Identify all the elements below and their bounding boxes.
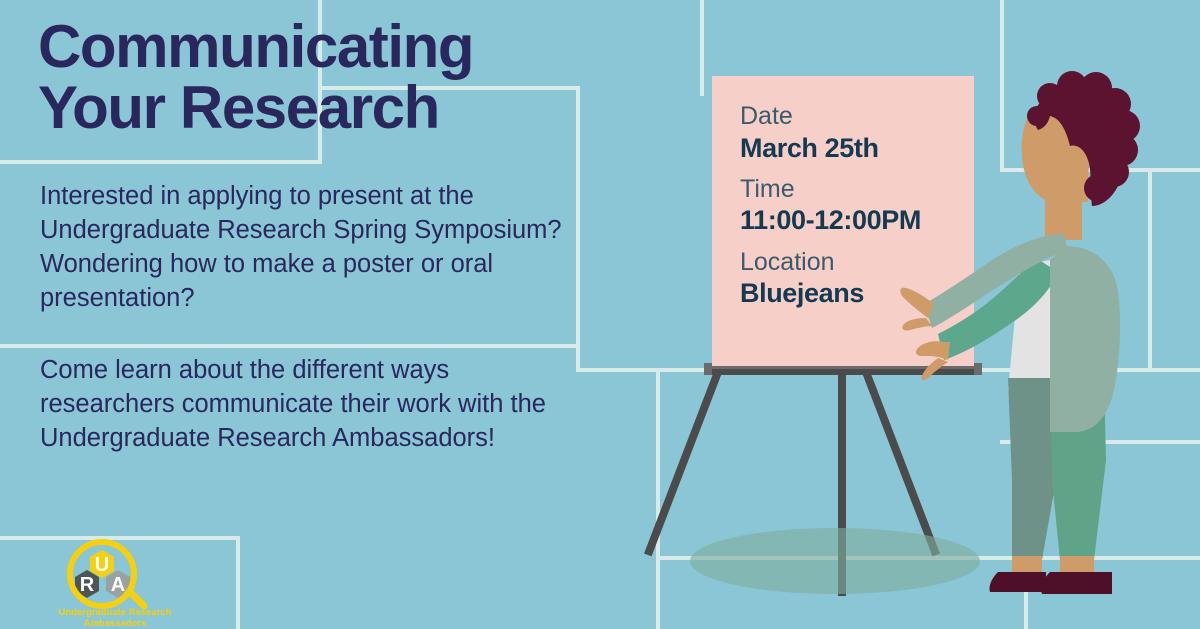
figure-hair-curl (1084, 174, 1112, 202)
grid-line-vertical (656, 368, 660, 629)
figure-hair-curl (1027, 106, 1047, 126)
page-title: Communicating Your Research (38, 16, 598, 138)
location-value: Bluejeans (740, 277, 921, 309)
logo-letter-u: U (95, 554, 109, 576)
board-field-date: Date March 25th (740, 102, 921, 164)
grid-line-horizontal (0, 160, 322, 164)
figure-ankle-front (1060, 556, 1094, 574)
easel-leg-left (644, 371, 722, 557)
presenter-illustration (900, 60, 1200, 629)
time-value: 11:00-12:00PM (740, 204, 921, 236)
logo-letter-a: A (111, 574, 125, 596)
figure-ankle-back (1012, 556, 1042, 574)
board-field-location: Location Bluejeans (740, 248, 921, 310)
body-paragraph-1: Interested in applying to present at the… (40, 180, 580, 316)
logo-letter-r: R (80, 574, 95, 596)
figure-upper-hand (900, 288, 934, 318)
figure-lower-hand-thumb (921, 358, 948, 380)
figure-lower-hand (916, 341, 950, 360)
grid-line-vertical (236, 536, 240, 629)
figure-shoe-front (1041, 572, 1112, 594)
ura-logo: U R A Undergraduate Research Ambassadors (50, 532, 180, 626)
poster-canvas: Communicating Your Research Interested i… (0, 0, 1200, 629)
board-content: Date March 25th Time 11:00-12:00PM Locat… (740, 102, 921, 321)
time-label: Time (740, 175, 921, 205)
logo-name-line-2: Ambassadors (50, 619, 180, 629)
body-paragraph-2: Come learn about the different ways rese… (40, 354, 585, 456)
location-label: Location (740, 248, 921, 278)
figure-shoe-back (989, 572, 1046, 592)
board-field-time: Time 11:00-12:00PM (740, 175, 921, 237)
grid-line-horizontal (0, 344, 580, 348)
date-value: March 25th (740, 132, 921, 164)
date-label: Date (740, 102, 921, 132)
grid-line-vertical (700, 0, 704, 96)
figure-upper-hand-thumb (902, 318, 932, 331)
